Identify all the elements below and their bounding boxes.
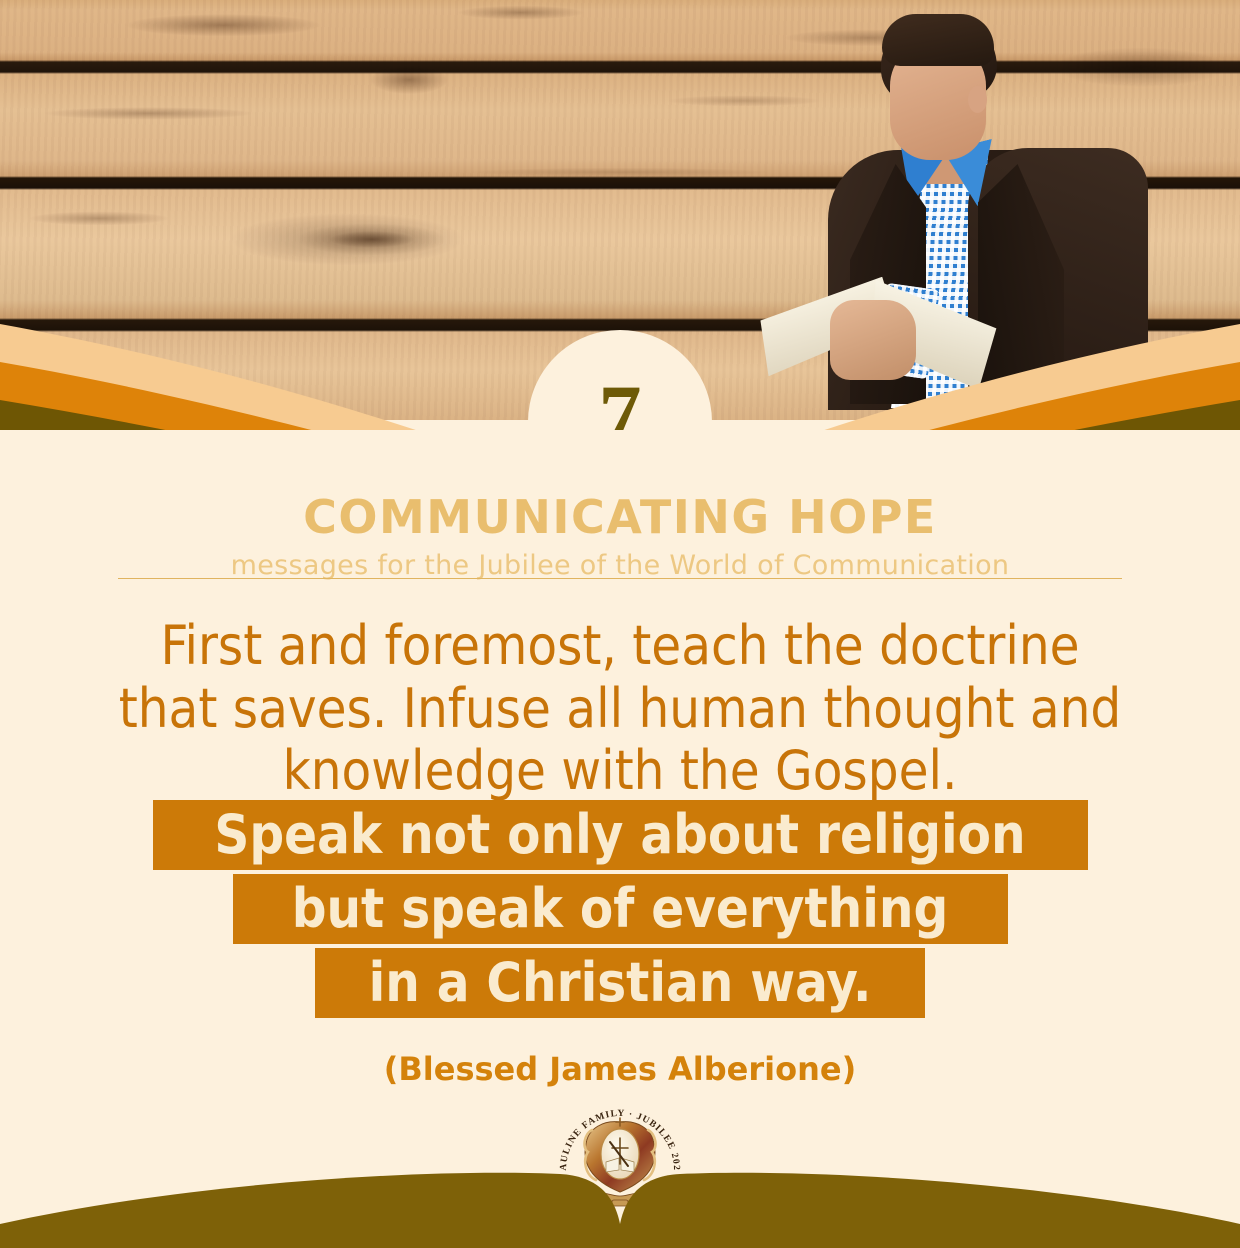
highlight-block: Speak not only about religion but speak … (0, 800, 1240, 1022)
quote-line: First and foremost, teach the doctrine (70, 615, 1170, 678)
quote-line: knowledge with the Gospel. (70, 740, 1170, 803)
page-title: COMMUNICATING HOPE (0, 490, 1240, 544)
highlight-line: but speak of everything (233, 874, 1008, 944)
title-block: COMMUNICATING HOPE messages for the Jubi… (0, 490, 1240, 581)
ear (968, 86, 987, 113)
title-divider (118, 578, 1122, 579)
footer-page-left (0, 1173, 620, 1248)
quote-line: that saves. Infuse all human thought and (70, 678, 1170, 741)
footer-page-right (620, 1173, 1240, 1248)
poster: 7 COMMUNICATING HOPE messages for the Ju… (0, 0, 1240, 1248)
highlight-line: Speak not only about religion (153, 800, 1088, 870)
page-subtitle: messages for the Jubilee of the World of… (0, 550, 1240, 581)
hair-front (882, 14, 994, 66)
quote-text: First and foremost, teach the doctrine t… (70, 615, 1170, 803)
quote-attribution: (Blessed James Alberione) (0, 1050, 1240, 1088)
footer-open-book (0, 1138, 1240, 1248)
highlight-line: in a Christian way. (315, 948, 925, 1018)
